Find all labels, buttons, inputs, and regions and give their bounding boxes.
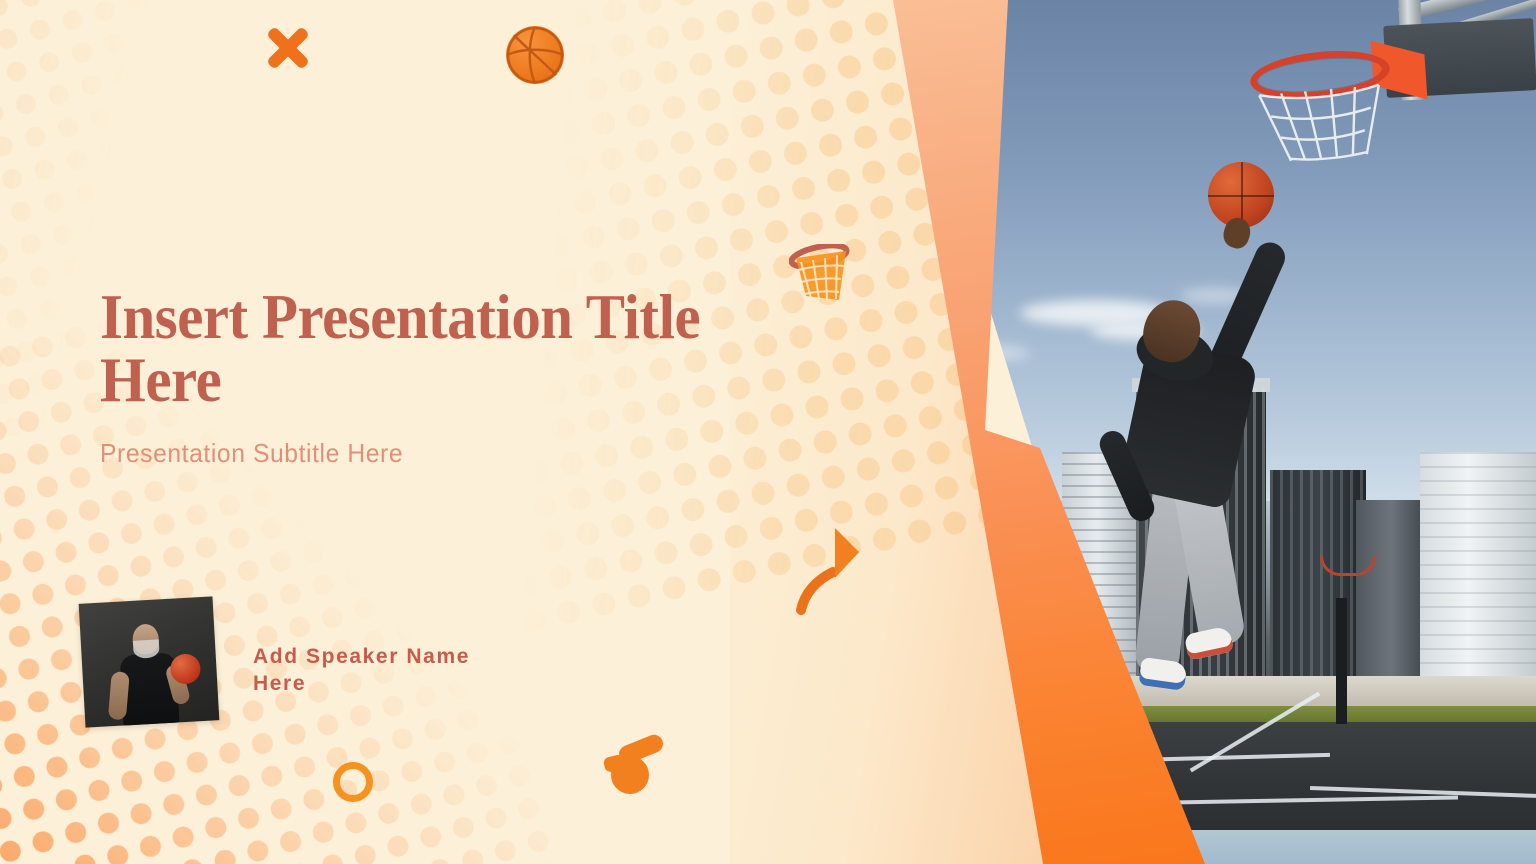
- ring-outline-icon: [333, 762, 373, 802]
- x-mark-icon: [262, 22, 314, 74]
- court-pole: [1336, 598, 1347, 724]
- basketball-hoop-icon: [789, 244, 857, 306]
- player-shoe: [1138, 657, 1187, 691]
- slide-subtitle: Presentation Subtitle Here: [100, 438, 403, 469]
- page-title: Insert Presentation Title Here: [100, 286, 744, 411]
- speaker-name: Add Speaker Name Here: [253, 644, 523, 698]
- content-panel: Insert Presentation Title Here Presentat…: [0, 0, 1060, 864]
- presentation-slide: Insert Presentation Title Here Presentat…: [0, 0, 1536, 864]
- whistle-icon: [600, 728, 670, 798]
- basketball-icon: [506, 26, 564, 84]
- hoop-net: [1255, 83, 1389, 166]
- curved-arrow-icon: [795, 518, 863, 618]
- player-shoe: [1184, 626, 1234, 661]
- speaker-photo: [79, 596, 220, 727]
- speaker-basketball: [170, 653, 202, 685]
